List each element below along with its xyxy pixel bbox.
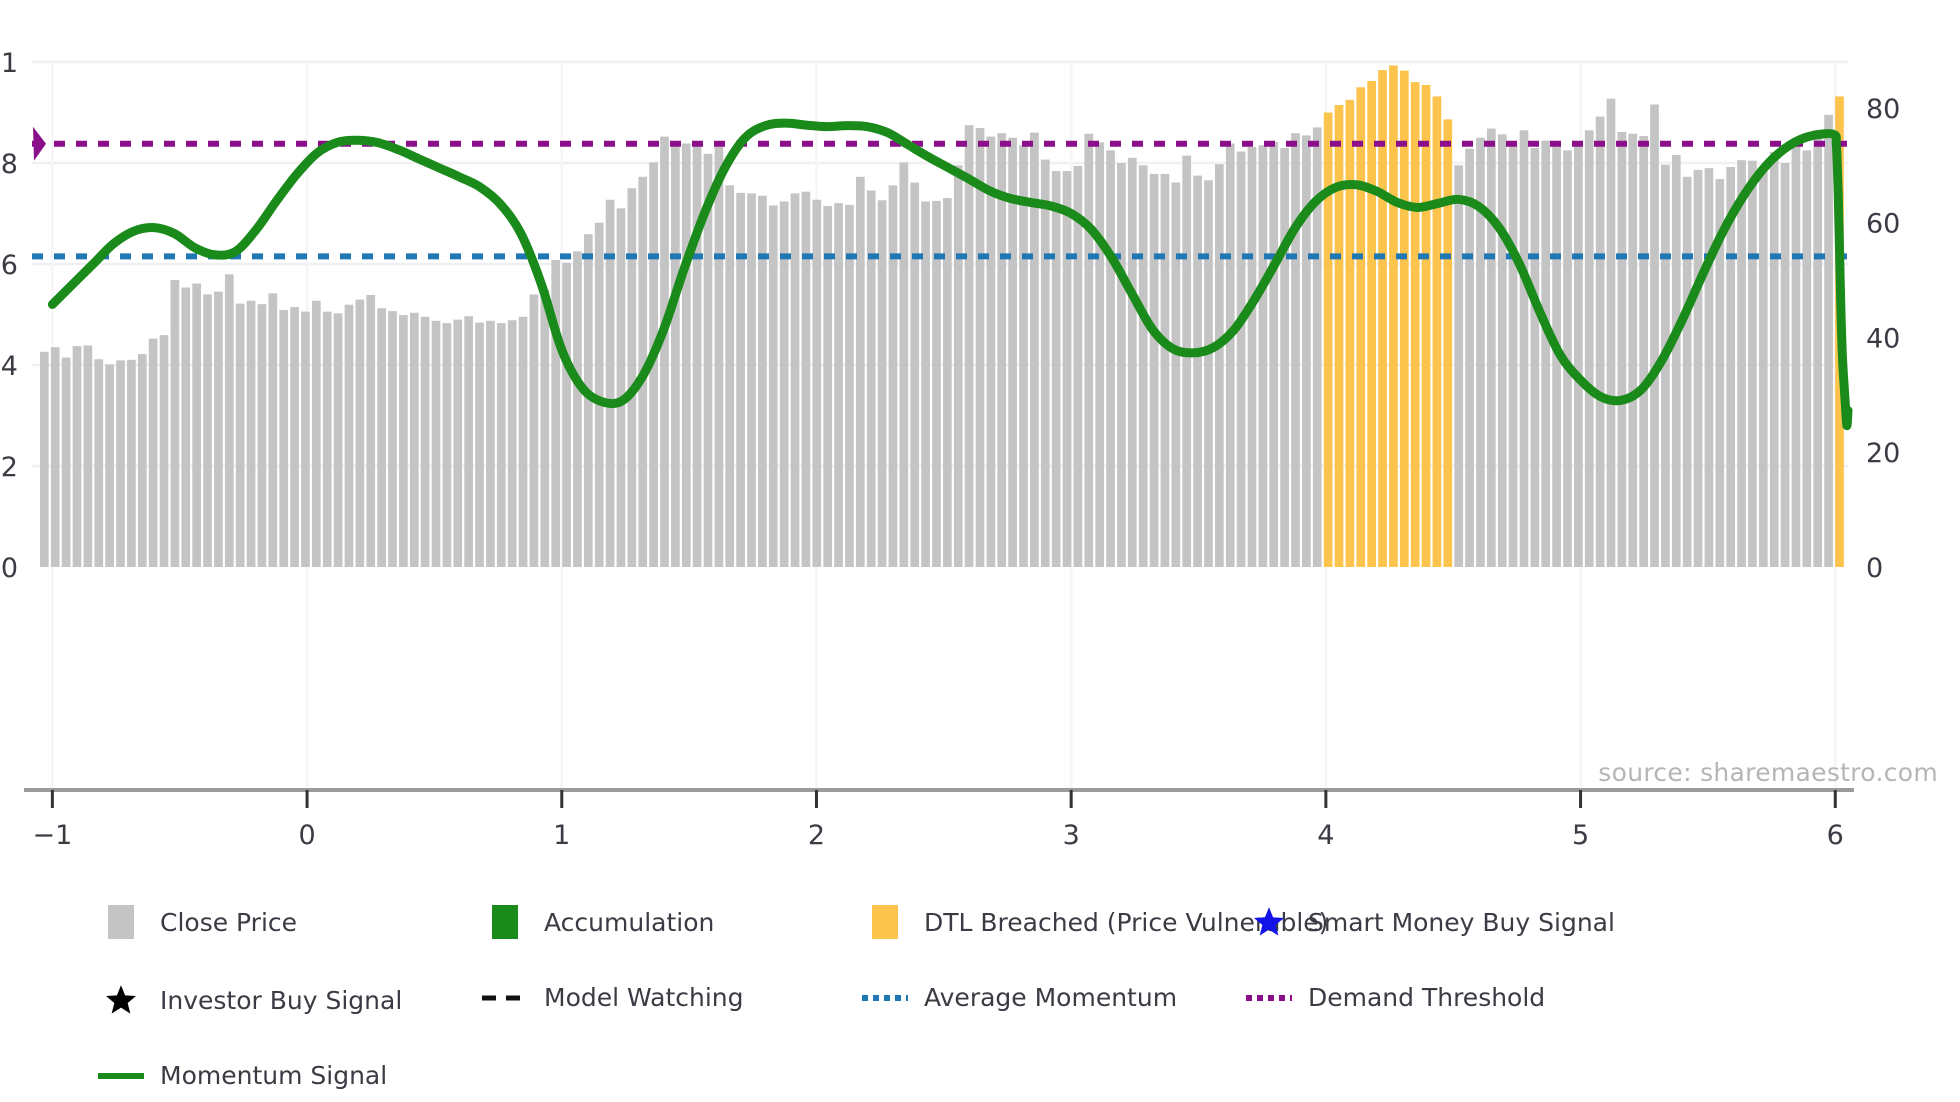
bar-close-price	[105, 364, 114, 567]
bar-close-price	[1084, 134, 1093, 567]
bar-close-price	[1248, 147, 1257, 567]
bar-close-price	[660, 137, 669, 567]
x-axis-tick-label: 0	[298, 820, 315, 851]
bar-close-price	[1465, 149, 1474, 567]
bar-close-price	[40, 352, 49, 567]
bar-dtl-breached	[1422, 85, 1431, 567]
bar-close-price	[116, 360, 125, 567]
bar-close-price	[519, 317, 528, 567]
bar-close-price	[834, 203, 843, 567]
bar-close-price	[356, 300, 365, 567]
x-axis-tick-label: 5	[1572, 820, 1589, 851]
bar-close-price	[943, 198, 952, 567]
bar-close-price	[1520, 130, 1529, 567]
legend-item[interactable]: Close Price	[96, 905, 297, 939]
bar-close-price	[323, 312, 332, 567]
bar-close-price	[171, 280, 180, 567]
bar-close-price	[1748, 161, 1757, 567]
bar-dtl-breached	[1356, 87, 1365, 567]
bar-close-price	[203, 294, 212, 567]
x-axis-tick-label: 3	[1063, 820, 1080, 851]
chart-page: 00.20.40.60.81020406080−10123456 source:…	[0, 0, 1960, 1102]
x-axis-tick-label: −1	[32, 820, 72, 851]
bar-close-price	[475, 323, 484, 567]
solid-line-glyph	[96, 1069, 146, 1083]
bar-close-price	[410, 313, 419, 567]
close-price-bars	[40, 65, 1844, 567]
bar-close-price	[1074, 166, 1083, 567]
bar-close-price	[236, 304, 245, 567]
bar-close-price	[268, 293, 277, 567]
bar-close-price	[432, 321, 441, 567]
left-axis-tick-label: 0.2	[0, 452, 18, 483]
bar-close-price	[334, 313, 343, 567]
bar-close-price	[856, 177, 865, 567]
bar-close-price	[1117, 163, 1126, 567]
bar-close-price	[225, 274, 234, 567]
bar-close-price	[247, 301, 256, 567]
bar-close-price	[1302, 135, 1311, 567]
bar-close-price	[366, 295, 375, 567]
legend-item[interactable]: Momentum Signal	[96, 1061, 387, 1090]
bar-close-price	[181, 288, 190, 567]
bar-close-price	[1596, 117, 1605, 567]
bar-close-price	[715, 146, 724, 567]
bar-close-price	[290, 307, 299, 567]
right-axis-tick-label: 60	[1866, 209, 1900, 240]
bar-close-price	[1618, 132, 1627, 567]
bar-close-price	[671, 145, 680, 567]
bar-close-price	[1498, 134, 1507, 567]
bar-close-price	[867, 191, 876, 567]
bar-close-price	[1672, 155, 1681, 567]
bar-close-price	[976, 128, 985, 567]
bar-close-price	[1150, 174, 1159, 567]
bar-close-price	[965, 125, 974, 567]
bar-close-price	[1280, 148, 1289, 567]
bar-close-price	[301, 312, 310, 567]
bar-close-price	[910, 183, 919, 567]
bar-close-price	[453, 320, 462, 567]
bar-close-price	[421, 317, 430, 567]
bar-close-price	[812, 200, 821, 567]
x-axis-tick-label: 4	[1317, 820, 1334, 851]
bar-close-price	[1030, 133, 1039, 567]
bar-close-price	[84, 345, 93, 567]
bar-close-price	[94, 359, 103, 567]
bar-close-price	[149, 339, 158, 567]
legend-item[interactable]: Smart Money Buy Signal	[1244, 905, 1615, 939]
bar-close-price	[682, 143, 691, 567]
bar-close-price	[1487, 129, 1496, 567]
bar-close-price	[1259, 145, 1268, 567]
bar-close-price	[1509, 143, 1518, 567]
x-axis-tick-label: 6	[1827, 820, 1844, 851]
chart-legend: Close PriceAccumulationDTL Breached (Pri…	[0, 905, 1960, 1022]
bar-close-price	[573, 251, 582, 567]
bar-close-price	[345, 305, 354, 567]
momentum-price-chart: 00.20.40.60.81020406080−10123456	[0, 0, 1960, 860]
bar-close-price	[1781, 163, 1790, 567]
bar-close-price	[823, 206, 832, 567]
bar-close-price	[1759, 169, 1768, 567]
bar-close-price	[62, 358, 71, 567]
bar-close-price	[802, 192, 811, 567]
bar-close-price	[1683, 177, 1692, 567]
legend-row: Momentum Signal	[0, 983, 1960, 1022]
bar-dtl-breached	[1433, 96, 1442, 567]
bar-close-price	[1019, 145, 1028, 567]
bar-close-price	[1291, 133, 1300, 567]
bar-close-price	[693, 142, 702, 567]
bar-dtl-breached	[1411, 82, 1420, 567]
bar-close-price	[889, 185, 898, 567]
legend-item-label: Momentum Signal	[160, 1061, 387, 1090]
bar-close-price	[497, 323, 506, 567]
bar-close-price	[1694, 170, 1703, 567]
bar-close-price	[725, 185, 734, 567]
bar-close-price	[127, 360, 136, 567]
bar-close-price	[388, 311, 397, 567]
bar-close-price	[443, 323, 452, 567]
bar-close-price	[508, 320, 517, 567]
bar-close-price	[1792, 138, 1801, 567]
x-axis-tick-label: 2	[808, 820, 825, 851]
bar-close-price	[1204, 180, 1213, 567]
bar-close-price	[791, 193, 800, 567]
left-axis-tick-label: 0.4	[0, 351, 18, 382]
bar-close-price	[73, 346, 82, 567]
bar-close-price	[138, 354, 147, 567]
bar-close-price	[1052, 171, 1061, 567]
bar-close-price	[312, 301, 321, 567]
bar-close-price	[486, 321, 495, 567]
bar-close-price	[464, 316, 473, 567]
bar-close-price	[1541, 141, 1550, 567]
bar-close-price	[1237, 152, 1246, 567]
bar-close-price	[1041, 160, 1050, 567]
bar-close-price	[1574, 141, 1583, 567]
bar-close-price	[51, 347, 60, 567]
bar-close-price	[1106, 150, 1115, 567]
bar-close-price	[1215, 164, 1224, 567]
left-axis-tick-label: 1	[1, 48, 18, 79]
bar-close-price	[214, 292, 223, 567]
bar-close-price	[1628, 134, 1637, 567]
star-glyph	[1252, 905, 1286, 939]
bar-close-price	[1269, 142, 1278, 567]
bar-close-price	[1063, 171, 1072, 567]
legend-row: Investor Buy SignalModel WatchingAverage…	[0, 944, 1960, 983]
bar-close-price	[758, 196, 767, 567]
bar-close-price	[769, 205, 778, 567]
legend-item-label: Smart Money Buy Signal	[1308, 908, 1615, 937]
bar-close-price	[1607, 99, 1616, 567]
bar-close-price	[1139, 165, 1148, 567]
chart-canvas: 00.20.40.60.81020406080−10123456	[0, 0, 1960, 860]
x-axis-tick-label: 1	[553, 820, 570, 851]
demand-threshold-start-marker	[33, 127, 46, 161]
bar-close-price	[1095, 142, 1104, 567]
bar-close-price	[377, 308, 386, 567]
bar-dtl-breached	[1324, 113, 1333, 568]
bar-close-price	[1226, 143, 1235, 567]
bar-dtl-breached	[1346, 100, 1355, 567]
right-axis-tick-label: 80	[1866, 94, 1900, 125]
bar-close-price	[1824, 115, 1833, 567]
bar-close-price	[899, 162, 908, 567]
bar-close-price	[399, 315, 408, 567]
star-icon	[1244, 905, 1294, 939]
legend-item-label: Close Price	[160, 908, 297, 937]
legend-item[interactable]: Accumulation	[480, 905, 714, 939]
bar-close-price	[1639, 136, 1648, 567]
bar-close-price	[258, 304, 267, 567]
legend-color-swatch	[108, 905, 134, 939]
bar-dtl-breached	[1443, 119, 1452, 567]
bar-close-price	[192, 284, 201, 567]
bar-close-price	[1737, 160, 1746, 567]
bar-close-price	[747, 193, 756, 567]
left-axis-tick-label: 0	[1, 553, 18, 584]
bar-close-price	[1650, 104, 1659, 567]
left-axis-tick-label: 0.8	[0, 149, 18, 180]
bar-close-price	[562, 263, 571, 567]
bar-close-price	[987, 137, 996, 567]
bar-close-price	[1454, 165, 1463, 567]
bar-close-price	[1128, 158, 1137, 567]
legend-color-swatch	[872, 905, 898, 939]
legend-row: Close PriceAccumulationDTL Breached (Pri…	[0, 905, 1960, 944]
bar-close-price	[1705, 168, 1714, 567]
bar-close-price	[1171, 183, 1180, 567]
left-axis-tick-label: 0.6	[0, 250, 18, 281]
right-axis-tick-label: 20	[1866, 438, 1900, 469]
bar-close-price	[530, 294, 539, 567]
bar-close-price	[160, 335, 169, 567]
bar-close-price	[540, 290, 549, 567]
square-swatch-icon	[860, 905, 910, 939]
bar-close-price	[1770, 152, 1779, 567]
square-swatch-icon	[96, 905, 146, 939]
bar-close-price	[1161, 174, 1170, 567]
bar-close-price	[1182, 156, 1191, 567]
legend-color-swatch	[492, 905, 518, 939]
bar-dtl-breached	[1335, 105, 1344, 567]
bar-close-price	[1193, 176, 1202, 567]
legend-item-label: Accumulation	[544, 908, 714, 937]
right-axis-tick-label: 0	[1866, 553, 1883, 584]
bar-close-price	[279, 310, 288, 567]
source-attribution: source: sharemaestro.com	[1598, 758, 1938, 787]
bar-close-price	[1585, 130, 1594, 567]
bar-close-price	[736, 193, 745, 567]
square-swatch-icon	[480, 905, 530, 939]
bar-dtl-breached	[1367, 81, 1376, 567]
bar-close-price	[878, 200, 887, 567]
right-axis-tick-label: 40	[1866, 323, 1900, 354]
bar-close-price	[954, 165, 963, 567]
bar-close-price	[1530, 148, 1539, 567]
bar-close-price	[1802, 150, 1811, 567]
bar-close-price	[617, 208, 626, 567]
bar-dtl-breached	[1389, 65, 1398, 567]
solid-line-icon	[96, 1069, 146, 1083]
bar-close-price	[627, 188, 636, 567]
bar-close-price	[1813, 130, 1822, 567]
